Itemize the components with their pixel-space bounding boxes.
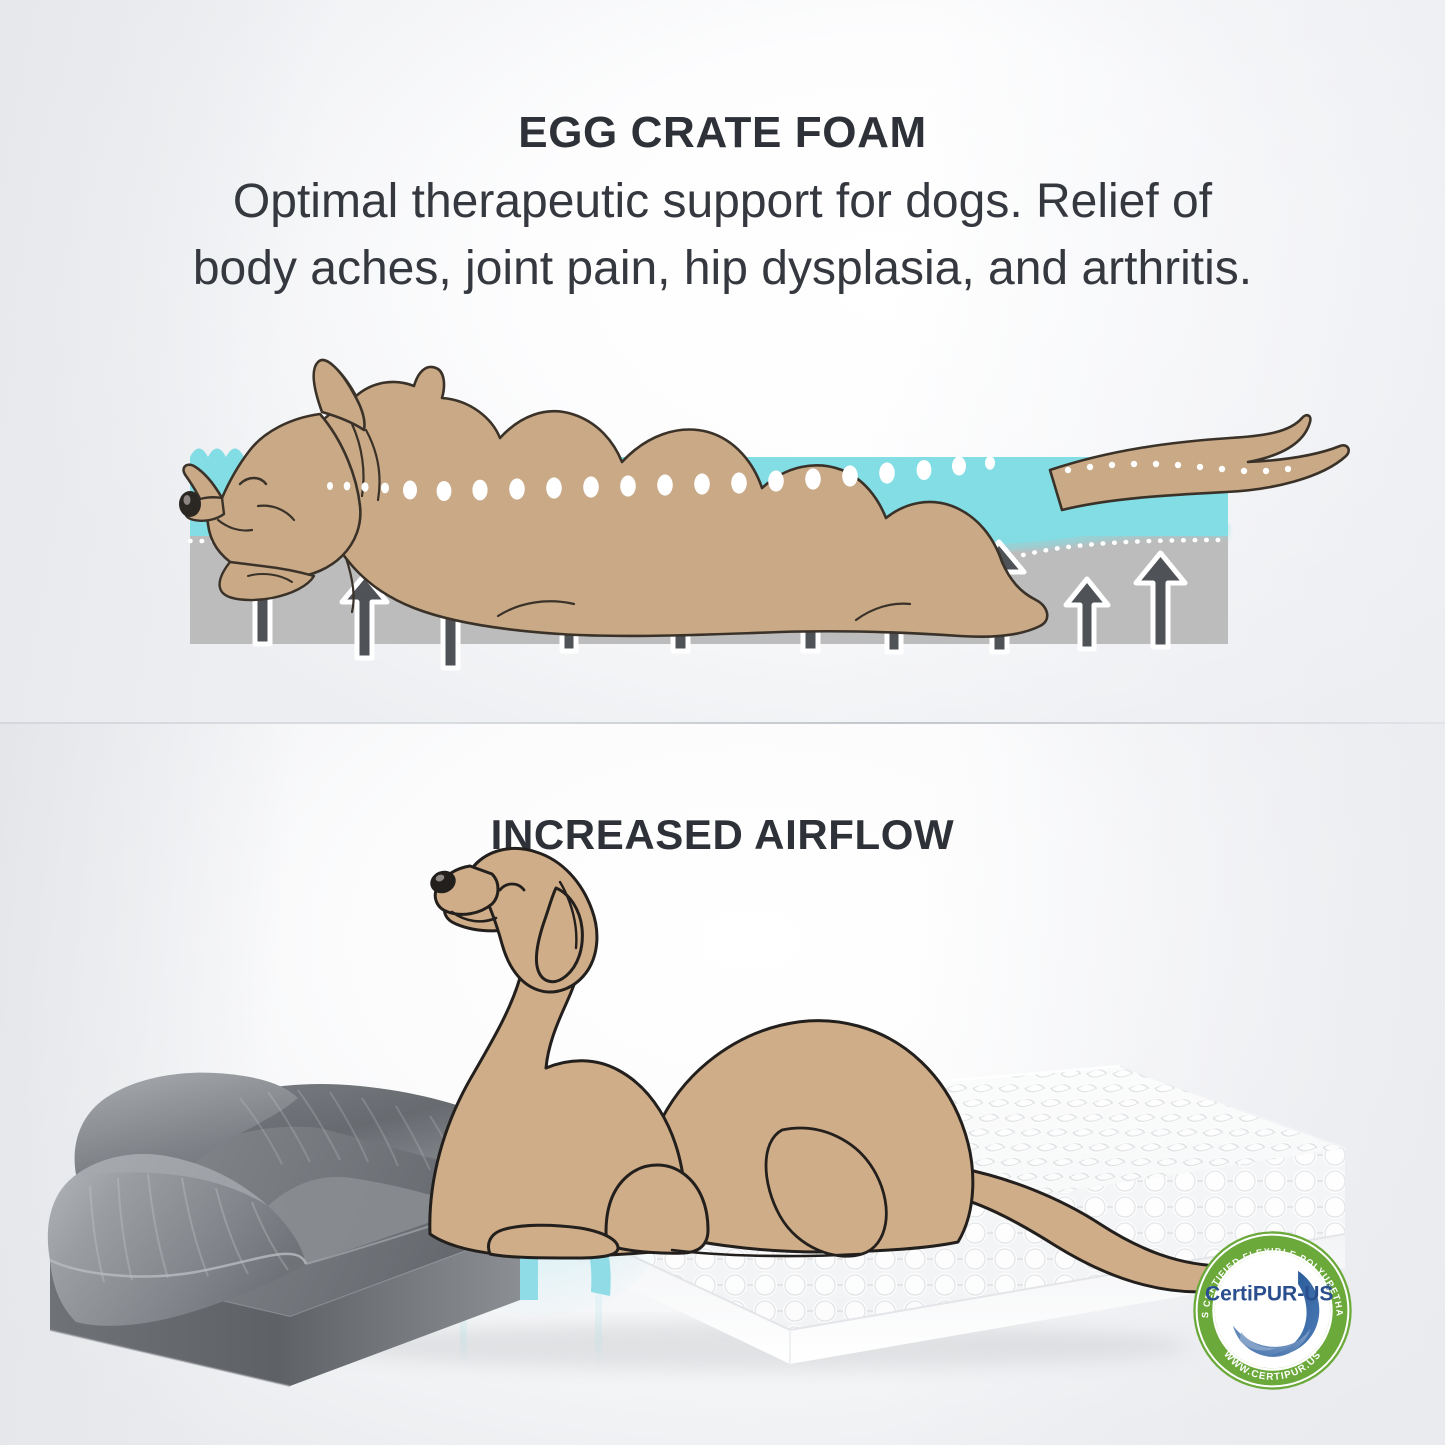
subtitle-line-2: body aches, joint pain, hip dysplasia, a… — [50, 235, 1395, 302]
infographic-page: EGG CRATE FOAM Optimal therapeutic suppo… — [0, 0, 1445, 1445]
page-title-egg-crate-foam: EGG CRATE FOAM — [0, 108, 1445, 158]
badge-registered-mark: ® — [1326, 1283, 1332, 1292]
dog-on-foam-cross-section — [0, 320, 1445, 720]
badge-wordmark: CertiPUR-US — [1205, 1283, 1333, 1306]
certipur-us-seal: CONTAINS CERTIFIED FLEXIBLE POLYURETHANE… — [1190, 1228, 1355, 1393]
subtitle-egg-crate-foam: Optimal therapeutic support for dogs. Re… — [50, 168, 1395, 302]
subtitle-line-1: Optimal therapeutic support for dogs. Re… — [50, 168, 1395, 235]
panel-divider — [0, 722, 1445, 724]
